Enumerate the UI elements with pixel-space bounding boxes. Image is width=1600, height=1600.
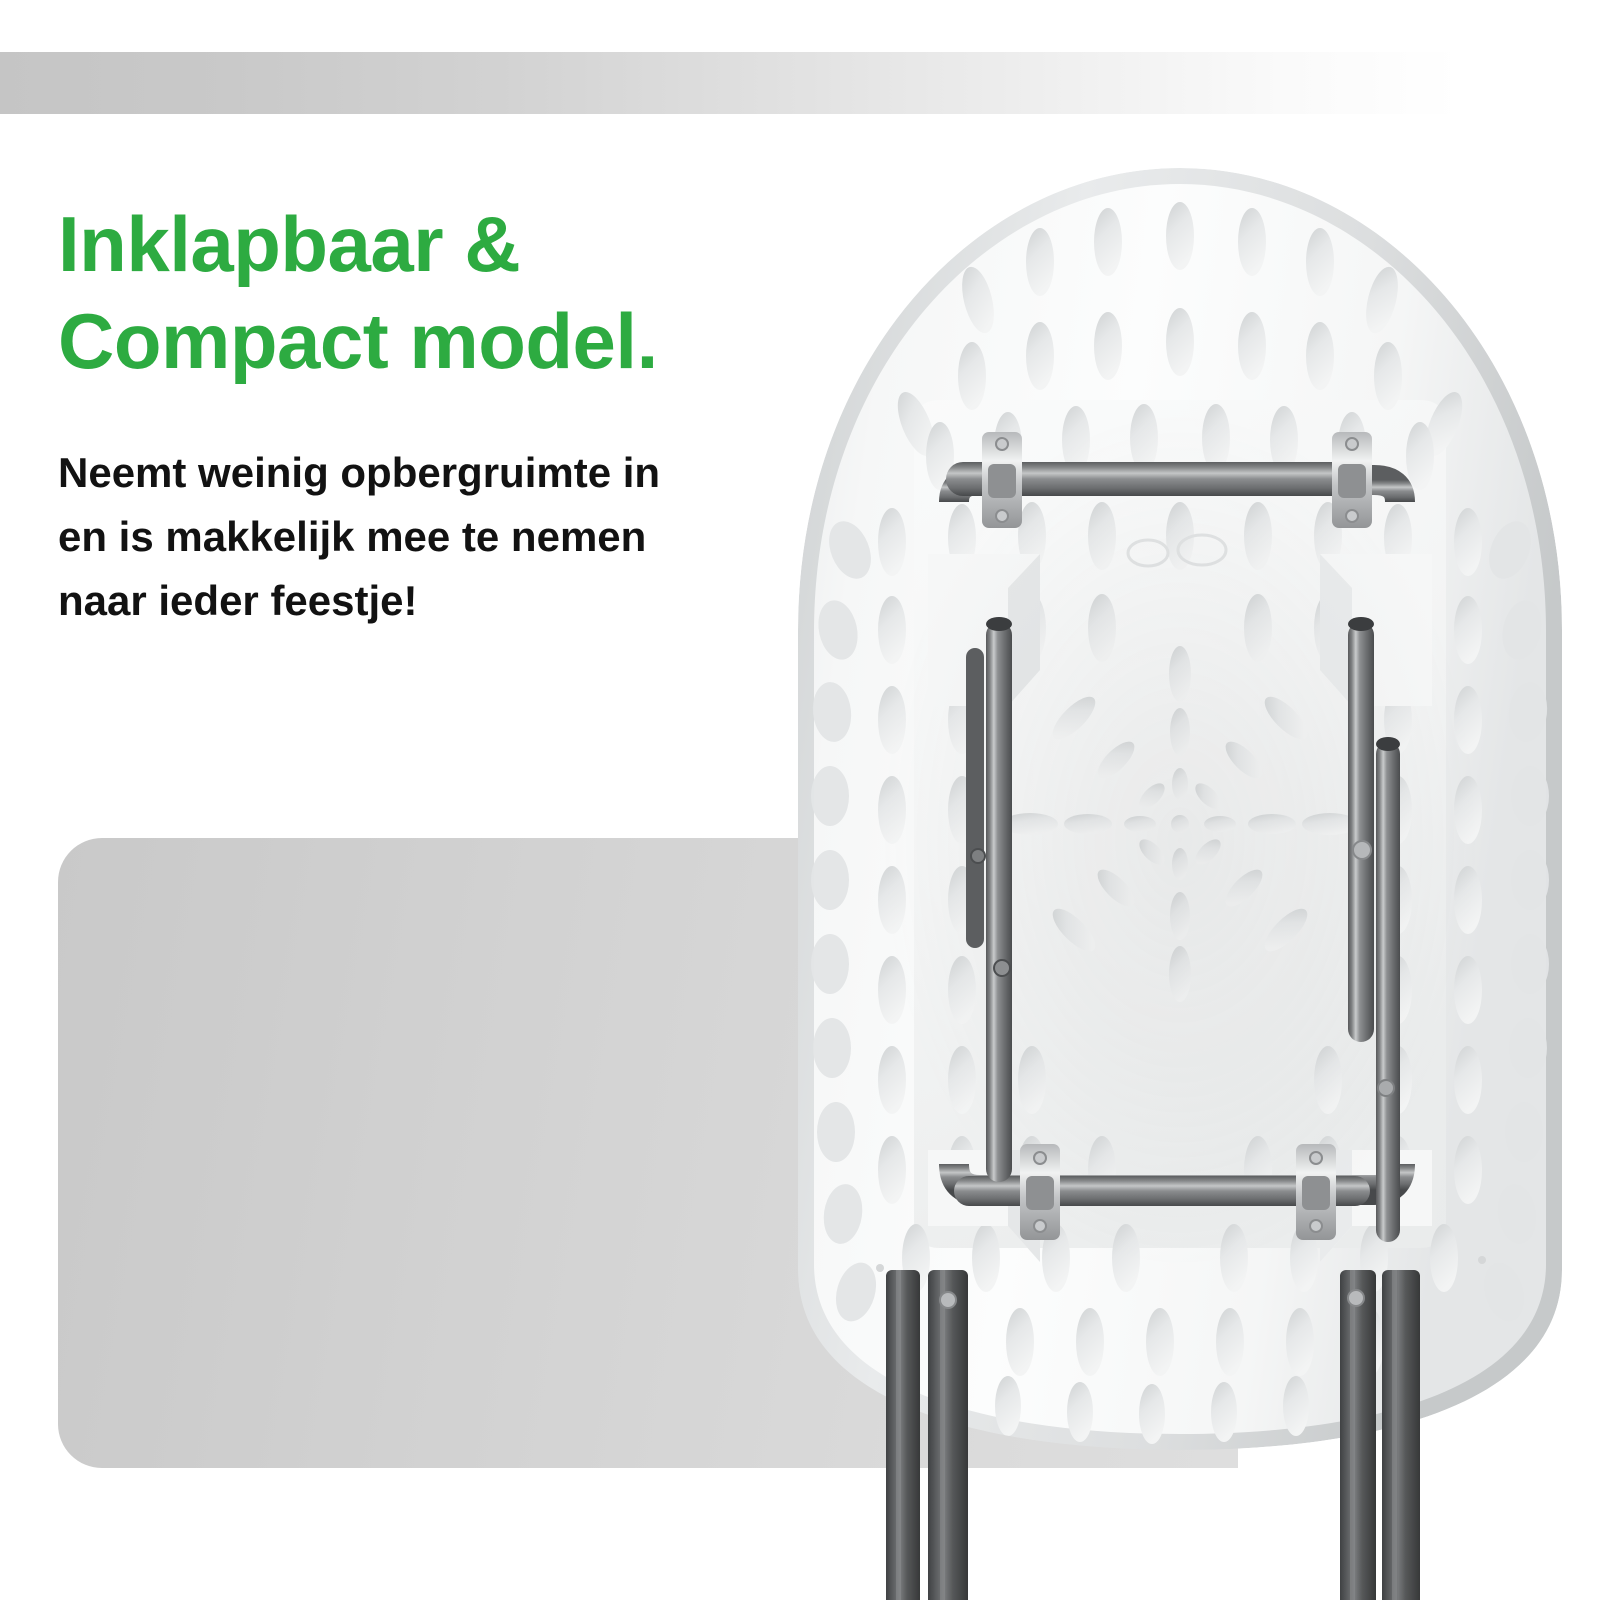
product-image <box>740 150 1600 1600</box>
page-title: Inklapbaar & Compact model. <box>58 196 818 389</box>
product-feature-banner: Inklapbaar & Compact model. Neemt weinig… <box>0 0 1600 1600</box>
top-gradient-band <box>0 52 1460 114</box>
copy-block: Inklapbaar & Compact model. Neemt weinig… <box>58 196 818 633</box>
body-text: Neemt weinig opbergruimte in en is makke… <box>58 441 818 632</box>
